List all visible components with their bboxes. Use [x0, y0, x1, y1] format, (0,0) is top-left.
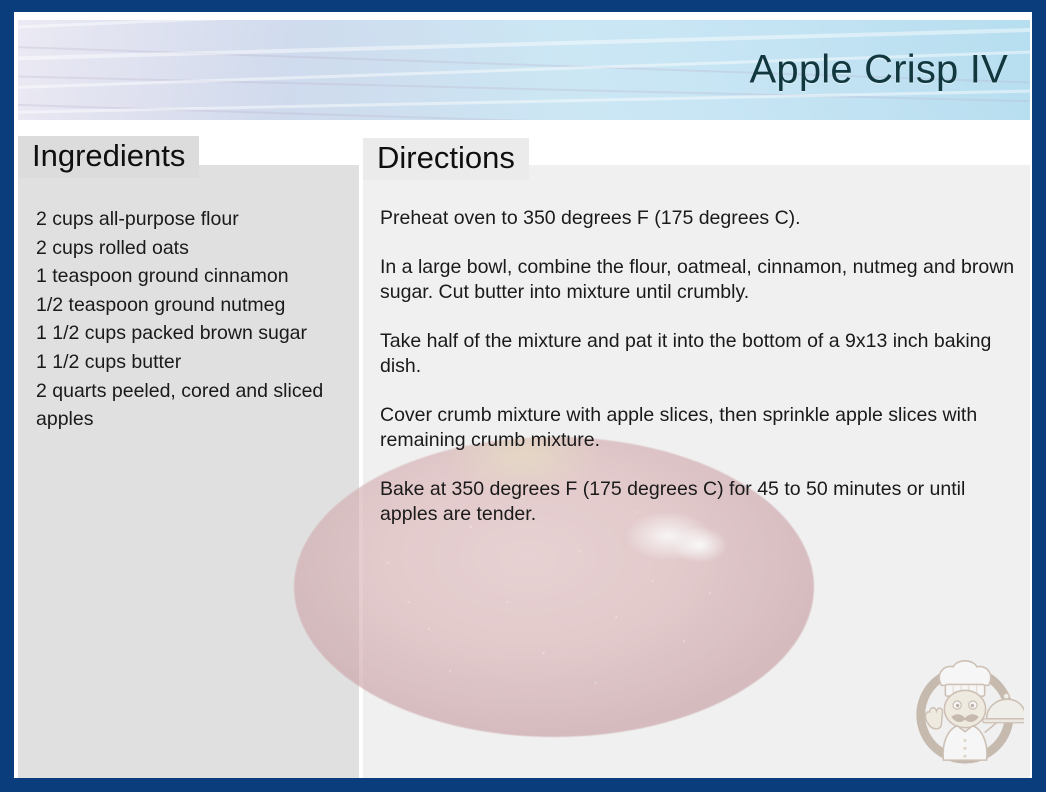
- direction-step: Cover crumb mixture with apple slices, t…: [380, 403, 1020, 453]
- list-item: 2 cups all-purpose flour: [36, 205, 358, 234]
- page-title: Apple Crisp IV: [750, 48, 1008, 93]
- direction-step: Preheat oven to 350 degrees F (175 degre…: [380, 206, 1020, 231]
- list-item: 1 1/2 cups butter: [36, 348, 358, 377]
- direction-step: In a large bowl, combine the flour, oatm…: [380, 255, 1020, 305]
- direction-step: Take half of the mixture and pat it into…: [380, 329, 1020, 379]
- list-item: 2 cups rolled oats: [36, 234, 358, 263]
- list-item: 1/2 teaspoon ground nutmeg: [36, 291, 358, 320]
- recipe-slide: Apple Crisp IV Ingredients Directions 2 …: [0, 0, 1046, 792]
- slide-inner-canvas: Apple Crisp IV Ingredients Directions 2 …: [14, 12, 1032, 778]
- ingredients-list: 2 cups all-purpose flour 2 cups rolled o…: [36, 205, 358, 434]
- list-item: 1 teaspoon ground cinnamon: [36, 262, 358, 291]
- directions-list: Preheat oven to 350 degrees F (175 degre…: [380, 206, 1020, 527]
- direction-step: Bake at 350 degrees F (175 degrees C) fo…: [380, 477, 1020, 527]
- chef-mascot-logo: [906, 650, 1024, 768]
- directions-heading-tab: Directions: [363, 138, 529, 180]
- list-item: 2 quarts peeled, cored and sliced apples: [36, 377, 358, 434]
- ingredients-heading-tab: Ingredients: [18, 136, 199, 178]
- list-item: 1 1/2 cups packed brown sugar: [36, 319, 358, 348]
- header-banner: Apple Crisp IV: [18, 20, 1030, 120]
